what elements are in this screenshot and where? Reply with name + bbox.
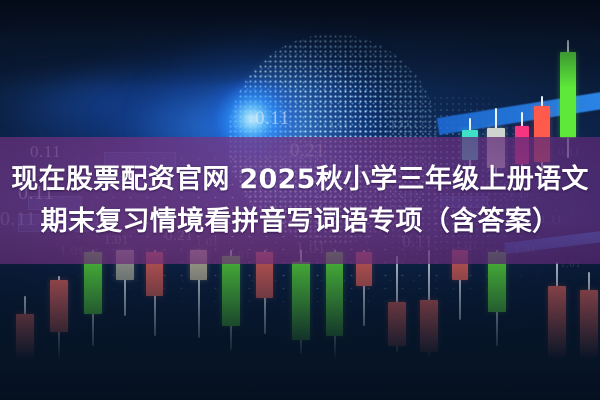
title-line-1: 现在股票配资官网 2025秋小学三年级上册语文 bbox=[11, 160, 588, 200]
banner-image: 0.110.110.111.011.011.010.211.011.010.11… bbox=[0, 0, 600, 400]
page-title: 现在股票配资官网 2025秋小学三年级上册语文 期末复习情境看拼音写词语专项（含… bbox=[0, 137, 600, 264]
title-line-2: 期末复习情境看拼音写词语专项（含答案） bbox=[41, 202, 560, 242]
